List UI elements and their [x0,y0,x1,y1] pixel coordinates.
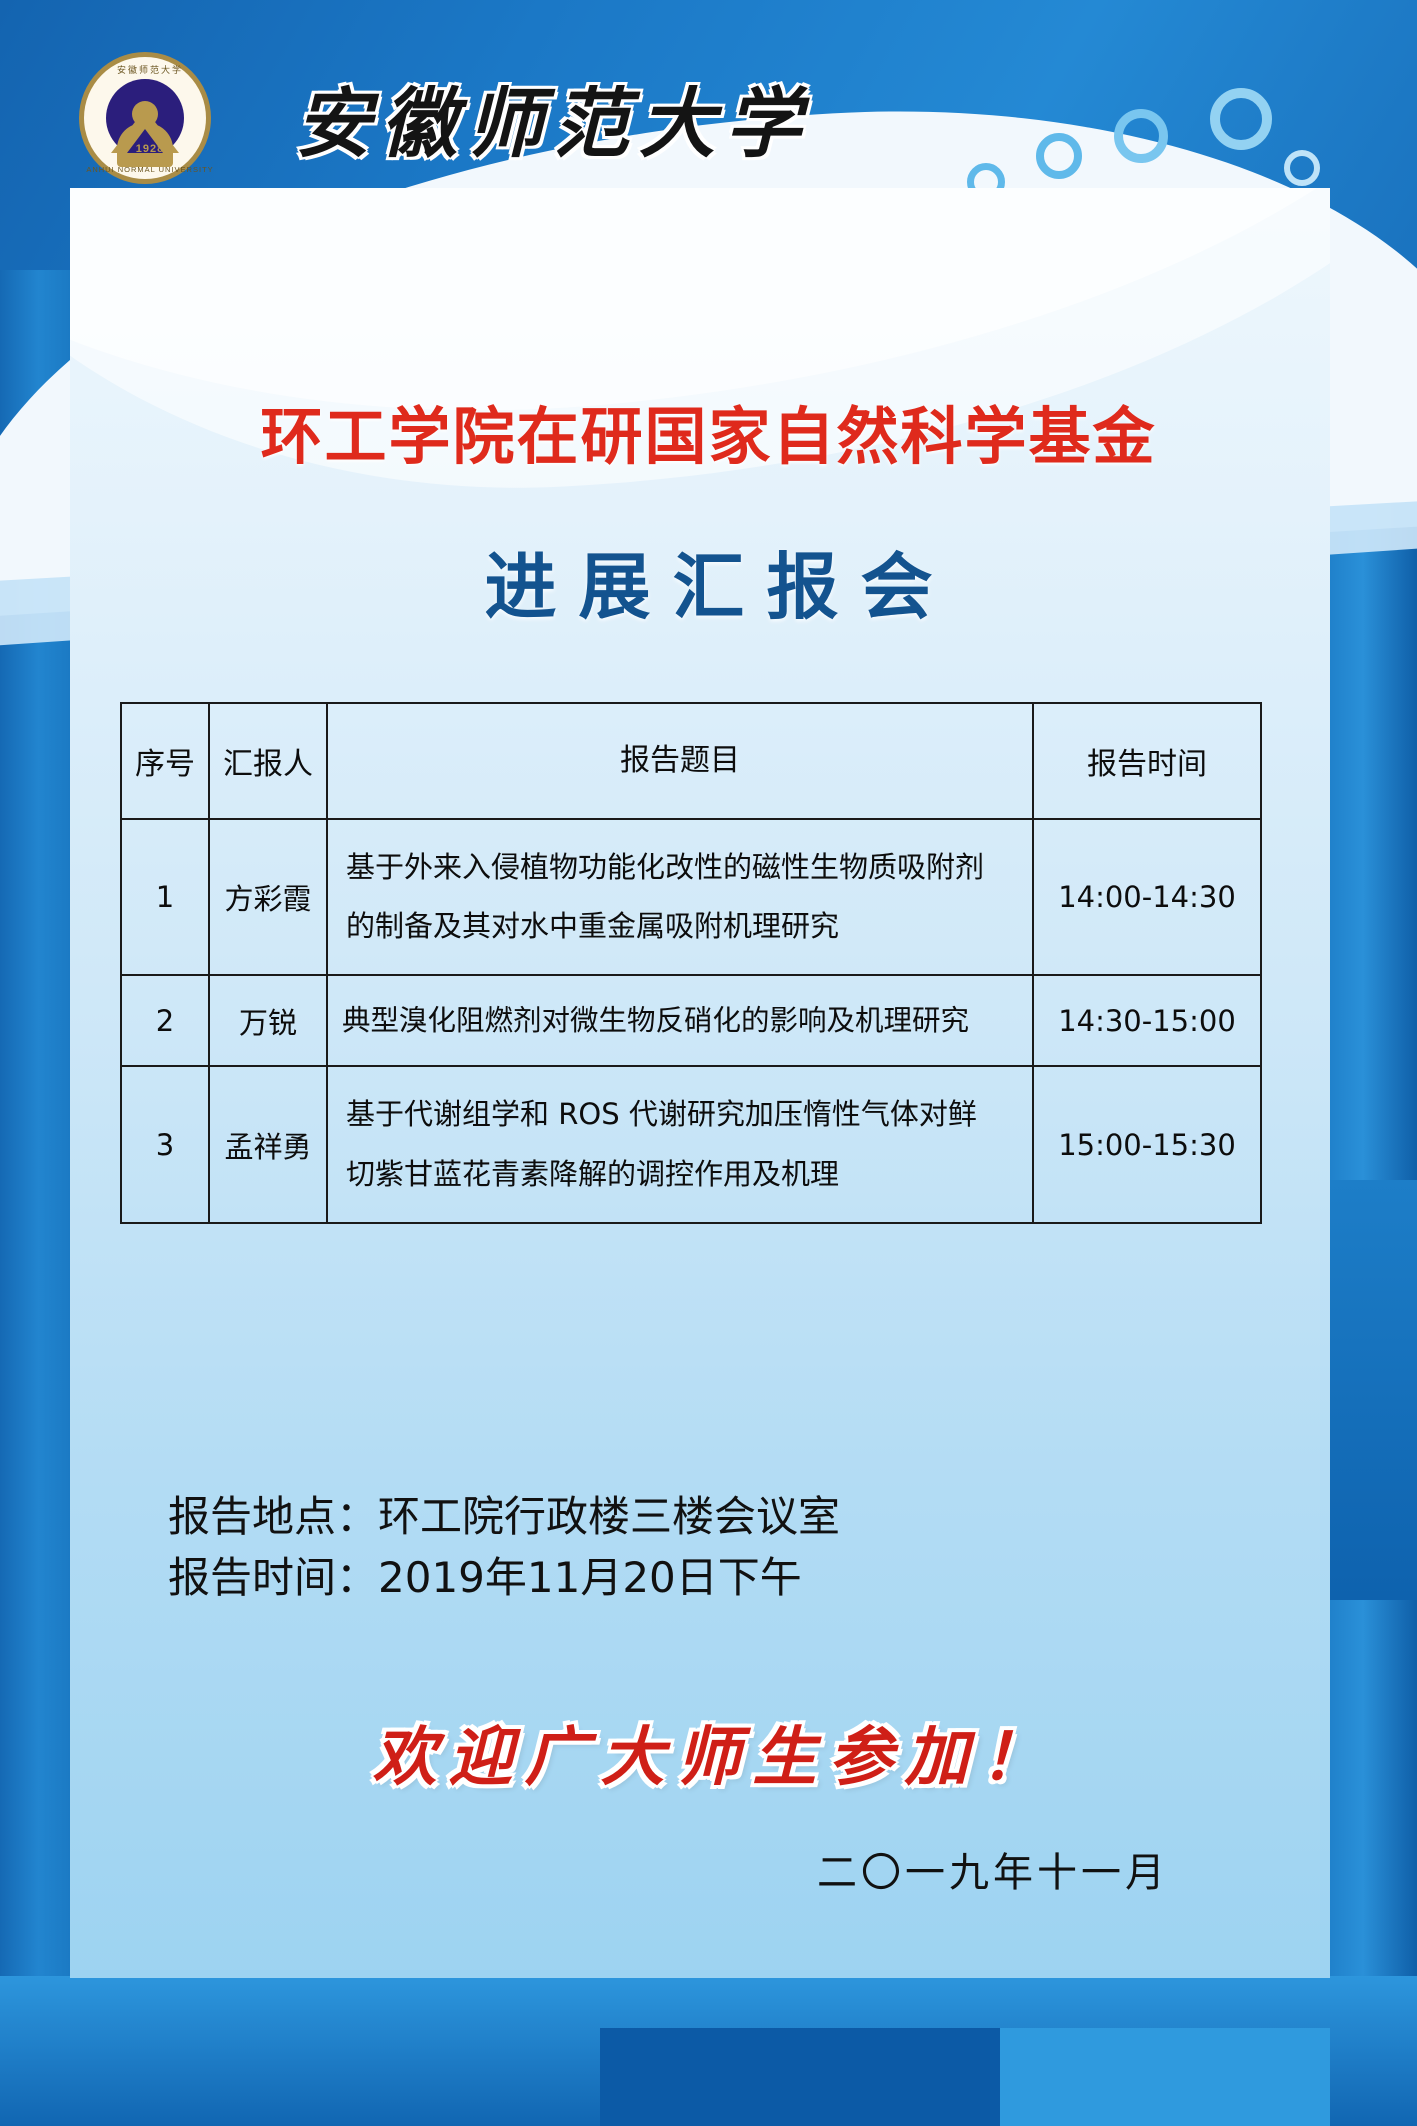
cell-presenter: 万锐 [209,975,327,1066]
table-header-row: 序号 汇报人 报告题目 报告时间 [121,703,1261,819]
column-header-no: 序号 [121,703,209,819]
schedule-table: 序号 汇报人 报告题目 报告时间 1方彩霞基于外来入侵植物功能化改性的磁性生物质… [120,702,1262,1224]
column-header-presenter: 汇报人 [209,703,327,819]
column-header-title: 报告题目 [327,703,1033,819]
logo-founded-year: 1928 [84,143,216,155]
poster-canvas: 安徽师范大学 ANHUI NORMAL UNIVERSITY 1928 安徽师范… [0,0,1417,2126]
cell-no: 3 [121,1066,209,1223]
event-info: 报告地点：环工院行政楼三楼会议室 报告时间：2019年11月20日下午 [168,1487,840,1609]
cell-title: 典型溴化阻燃剂对微生物反硝化的影响及机理研究 [327,975,1033,1066]
cell-title: 基于代谢组学和 ROS 代谢研究加压惰性气体对鲜切紫甘蓝花青素降解的调控作用及机… [327,1066,1033,1223]
cell-title: 基于外来入侵植物功能化改性的磁性生物质吸附剂的制备及其对水中重金属吸附机理研究 [327,819,1033,976]
table-row: 2万锐典型溴化阻燃剂对微生物反硝化的影响及机理研究14:30-15:00 [121,975,1261,1066]
table-row: 3孟祥勇基于代谢组学和 ROS 代谢研究加压惰性气体对鲜切紫甘蓝花青素降解的调控… [121,1066,1261,1223]
column-header-time: 报告时间 [1033,703,1261,819]
frame-left-band [0,0,70,2126]
event-datetime: 报告时间：2019年11月20日下午 [168,1548,840,1609]
signature-date: 二〇一九年十一月 [817,1840,1169,1898]
decorative-ring-3 [1114,109,1168,163]
cell-time: 15:00-15:30 [1033,1066,1261,1223]
decorative-ring-4 [1210,88,1272,150]
cell-presenter: 孟祥勇 [209,1066,327,1223]
cell-time: 14:00-14:30 [1033,819,1261,976]
welcome-message: 欢迎广大师生参加！ [0,1706,1417,1798]
frame-bottom-block-light [1000,2028,1330,2126]
table-body: 1方彩霞基于外来入侵植物功能化改性的磁性生物质吸附剂的制备及其对水中重金属吸附机… [121,819,1261,1224]
decorative-ring-2 [1036,133,1082,179]
poster-title-line1: 环工学院在研国家自然科学基金 [0,386,1417,476]
event-venue: 报告地点：环工院行政楼三楼会议室 [168,1487,840,1548]
logo-inner-disc: 安徽师范大学 ANHUI NORMAL UNIVERSITY 1928 [84,57,206,179]
poster-title-line2: 进展汇报会 [0,528,1417,633]
cell-time: 14:30-15:00 [1033,975,1261,1066]
university-logo: 安徽师范大学 ANHUI NORMAL UNIVERSITY 1928 [79,52,211,184]
cell-presenter: 方彩霞 [209,819,327,976]
cell-no: 2 [121,975,209,1066]
cell-no: 1 [121,819,209,976]
logo-badge-cn-text: 安徽师范大学 [84,63,216,76]
decorative-ring-5 [1284,150,1320,186]
university-name-cn: 安徽师范大学 [295,62,811,172]
table-row: 1方彩霞基于外来入侵植物功能化改性的磁性生物质吸附剂的制备及其对水中重金属吸附机… [121,819,1261,976]
frame-bottom-block-dark [600,2028,1000,2126]
